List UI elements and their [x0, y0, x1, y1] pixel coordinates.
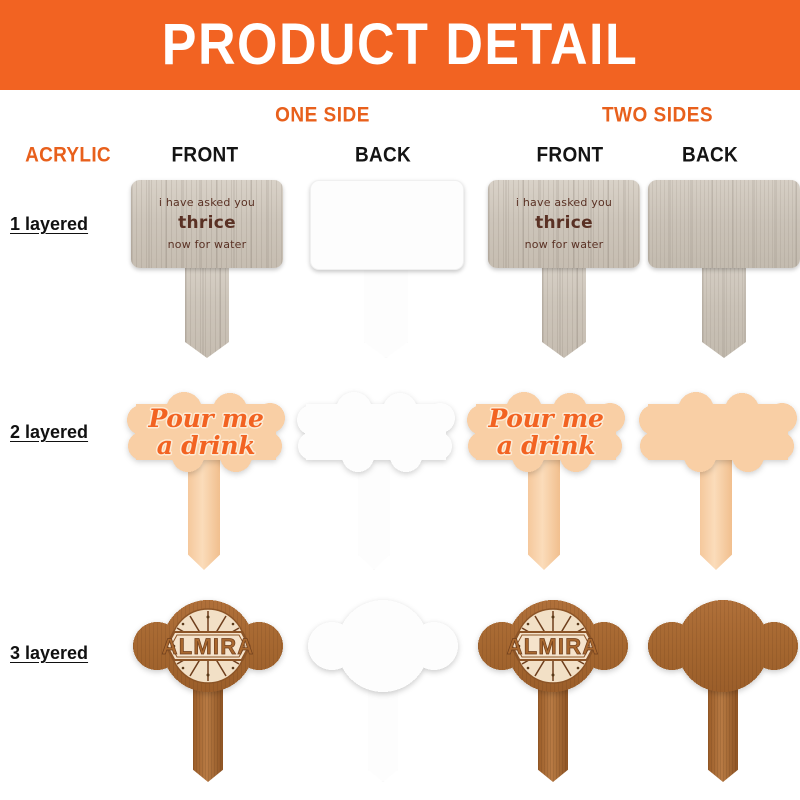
sign-plaque	[648, 180, 800, 268]
sign-text-line2: a drink	[157, 432, 255, 459]
sign-row2-two-sides-front: Pour me a drink	[466, 392, 626, 582]
sign-plaque	[308, 600, 458, 692]
sign-text-line2: thrice	[535, 211, 593, 237]
sign-text-line3: now for water	[525, 237, 604, 254]
column-header-one-side-front: FRONT	[140, 144, 270, 168]
sign-stake	[185, 258, 229, 358]
almira-badge-text: ALMIRA	[162, 634, 255, 659]
sign-plaque	[310, 180, 464, 270]
row-label-3-layered: 3 layered	[10, 643, 88, 664]
almira-badge-art: ALMIRA	[478, 600, 628, 692]
group-header-two-sides: TWO SIDES	[565, 104, 750, 128]
sign-text-block: i have asked you thrice now for water	[131, 180, 283, 268]
almira-badge-art: ALMIRA	[133, 600, 283, 692]
sign-stake	[708, 680, 738, 782]
sign-stake	[368, 680, 398, 782]
sign-text-line3: now for water	[168, 237, 247, 254]
sign-text-block: Pour me a drink	[126, 392, 286, 472]
group-header-one-side: ONE SIDE	[235, 104, 410, 128]
sign-text-line1: Pour me	[488, 405, 603, 432]
sign-stake	[193, 680, 223, 782]
sign-text-block: Pour me a drink	[466, 392, 626, 472]
column-header-two-sides-back: BACK	[645, 144, 775, 168]
sign-stake	[538, 680, 568, 782]
row-label-1-layered: 1 layered	[10, 214, 88, 235]
sign-row1-one-side-front: i have asked you thrice now for water	[131, 180, 283, 370]
sign-stake	[364, 258, 408, 358]
sign-row3-one-side-back	[308, 600, 458, 785]
sign-row3-one-side-front: ALMIRA	[133, 600, 283, 785]
sign-row1-two-sides-back	[648, 180, 800, 370]
sign-stake	[528, 460, 560, 570]
sign-row2-one-side-front: Pour me a drink	[126, 392, 286, 582]
sign-plaque	[648, 600, 798, 692]
sign-stake	[700, 460, 732, 570]
sign-row2-one-side-back	[296, 392, 456, 582]
sign-stake	[542, 258, 586, 358]
almira-badge-text: ALMIRA	[507, 634, 600, 659]
sign-text-line1: i have asked you	[516, 195, 612, 212]
sign-plaque	[638, 392, 798, 472]
page-title: PRODUCT DETAIL	[162, 16, 638, 74]
sign-row2-two-sides-back	[638, 392, 798, 582]
sign-stake	[702, 258, 746, 358]
header-banner: PRODUCT DETAIL	[0, 0, 800, 90]
sign-text-line1: i have asked you	[159, 195, 255, 212]
corner-label-acrylic: ACRYLIC	[8, 144, 128, 168]
sign-plaque	[296, 392, 456, 472]
sign-text-line2: thrice	[178, 211, 236, 237]
row-label-2-layered: 2 layered	[10, 422, 88, 443]
sign-text-line1: Pour me	[148, 405, 263, 432]
sign-text-block: i have asked you thrice now for water	[488, 180, 640, 268]
sign-text-line2: a drink	[497, 432, 595, 459]
sign-row3-two-sides-front: ALMIRA	[478, 600, 628, 785]
column-header-two-sides-front: FRONT	[505, 144, 635, 168]
sign-stake	[188, 460, 220, 570]
sign-row1-one-side-back	[310, 180, 462, 370]
sign-row3-two-sides-back	[648, 600, 798, 785]
sign-stake	[358, 460, 390, 570]
column-header-one-side-back: BACK	[318, 144, 448, 168]
sign-row1-two-sides-front: i have asked you thrice now for water	[488, 180, 640, 370]
